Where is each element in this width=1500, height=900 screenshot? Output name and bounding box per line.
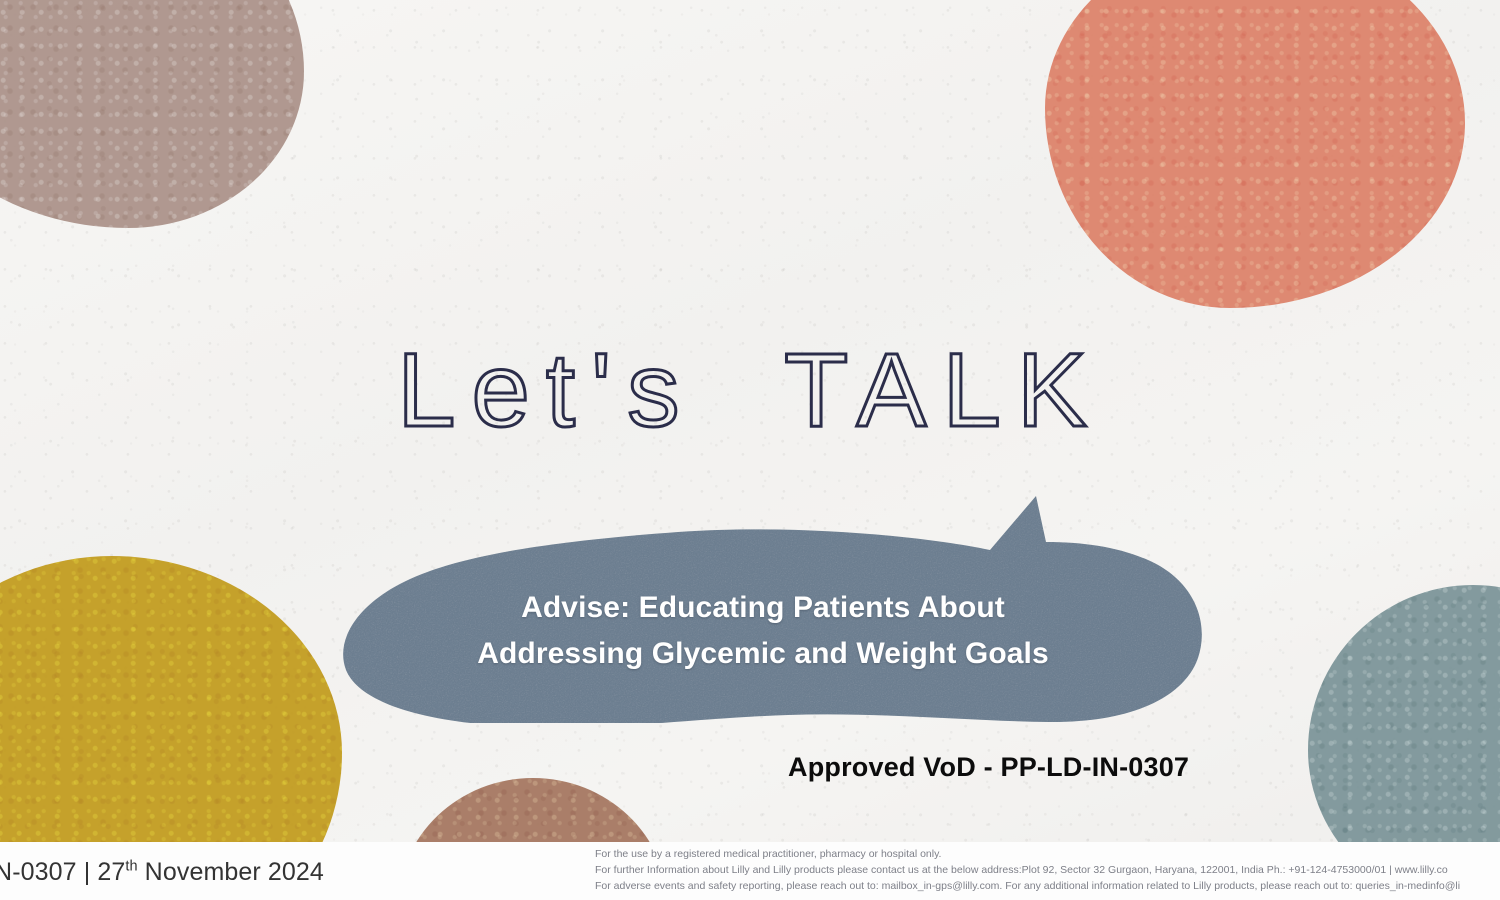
slide-headline: Let's TALK (0, 338, 1500, 443)
footer-code-ordinal: th (125, 859, 137, 875)
footer-code-suffix: November 2024 (138, 858, 324, 886)
presentation-slide: Let's TALK Advise: Educating Patients Ab… (0, 0, 1500, 900)
legal-line-2: For further Information about Lilly and … (595, 863, 1500, 879)
footer-code-prefix: -LD-IN-0307 | 27 (0, 858, 125, 886)
bubble-text-line-2: Addressing Glycemic and Weight Goals (318, 631, 1208, 677)
legal-line-3: For adverse events and safety reporting,… (595, 879, 1500, 895)
approved-vod-stamp: Approved VoD - PP-LD-IN-0307 (788, 752, 1189, 783)
footer-legal-disclaimer: For the use by a registered medical prac… (595, 847, 1500, 895)
speech-bubble-text: Advise: Educating Patients About Address… (318, 585, 1208, 676)
legal-line-1: For the use by a registered medical prac… (595, 847, 1500, 863)
bubble-text-line-1: Advise: Educating Patients About (318, 585, 1208, 631)
slide-footer: -LD-IN-0307 | 27th November 2024 For the… (0, 842, 1500, 900)
footer-approval-code: -LD-IN-0307 | 27th November 2024 (0, 858, 324, 887)
